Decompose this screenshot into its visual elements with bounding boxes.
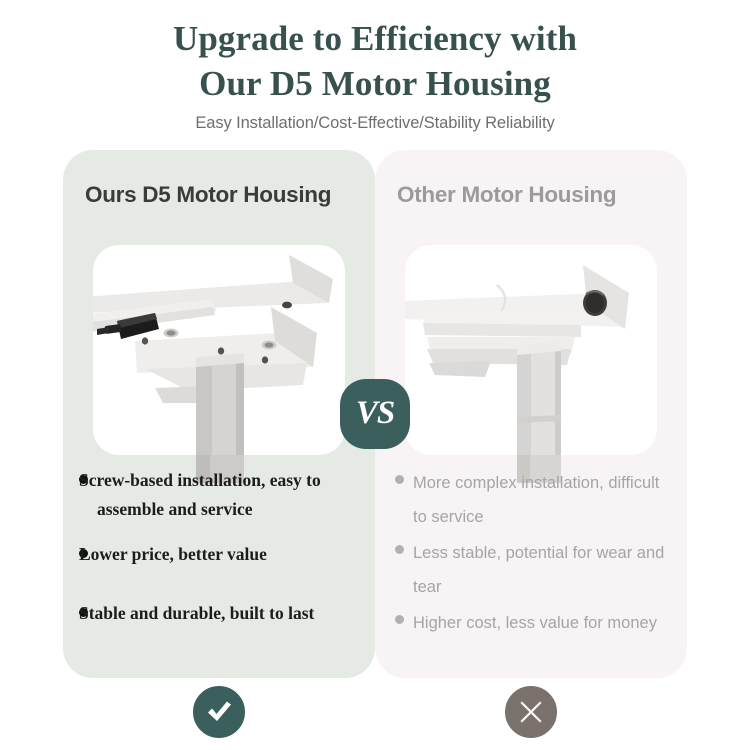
panel-other: Other Motor Housing	[375, 150, 687, 678]
bullet-dot-icon	[395, 475, 404, 484]
list-item: Less stable, potential for wear and tear	[395, 536, 675, 604]
motor-housing-other-illustration	[405, 245, 657, 455]
vs-label: VS	[356, 395, 394, 432]
list-item: Screw-based installation, easy to assemb…	[79, 466, 363, 524]
screw	[282, 302, 292, 309]
comparison-infographic: Upgrade to Efficiency with Our D5 Motor …	[0, 0, 750, 750]
cross-icon	[515, 696, 547, 728]
product-photo-other	[405, 245, 657, 455]
screw	[142, 337, 148, 344]
screw	[218, 347, 224, 354]
list-item: Lower price, better value	[79, 540, 363, 569]
drawbacks-list-other: More complex installation, difficult to …	[395, 466, 675, 642]
headline-line-1: Upgrade to Efficiency with	[0, 16, 750, 61]
bullet-dot-icon	[395, 615, 404, 624]
list-item: More complex installation, difficult to …	[395, 466, 675, 534]
vs-badge: VS	[340, 379, 410, 449]
benefits-list-ours: Screw-based installation, easy to assemb…	[79, 466, 363, 644]
benefit-text: Lower price, better value	[97, 540, 267, 569]
list-item: Stable and durable, built to last	[79, 599, 363, 628]
check-icon	[202, 695, 236, 729]
panel-other-title: Other Motor Housing	[397, 182, 673, 208]
page-title: Upgrade to Efficiency with Our D5 Motor …	[0, 16, 750, 106]
screw	[262, 356, 268, 363]
page-subtitle: Easy Installation/Cost-Effective/Stabili…	[0, 114, 750, 133]
motor-housing-ours-illustration	[93, 245, 345, 455]
panel-ours: Ours D5 Motor Housing	[63, 150, 375, 678]
header: Upgrade to Efficiency with Our D5 Motor …	[0, 16, 750, 133]
bullet-dot-icon	[395, 545, 404, 554]
panel-ours-title: Ours D5 Motor Housing	[85, 182, 361, 208]
drawback-text: More complex installation, difficult to …	[413, 466, 675, 534]
desk-column	[517, 341, 561, 455]
port-hole	[583, 290, 607, 316]
desk-column	[196, 353, 244, 455]
benefit-text: Screw-based installation, easy to assemb…	[97, 466, 363, 524]
cross-badge	[498, 679, 564, 745]
product-photo-ours	[93, 245, 345, 455]
headline-line-2: Our D5 Motor Housing	[0, 61, 750, 106]
list-item: Higher cost, less value for money	[395, 606, 675, 640]
check-badge	[186, 679, 252, 745]
drawback-text: Less stable, potential for wear and tear	[413, 536, 675, 604]
benefit-text: Stable and durable, built to last	[97, 599, 314, 628]
drawback-text: Higher cost, less value for money	[413, 606, 657, 640]
